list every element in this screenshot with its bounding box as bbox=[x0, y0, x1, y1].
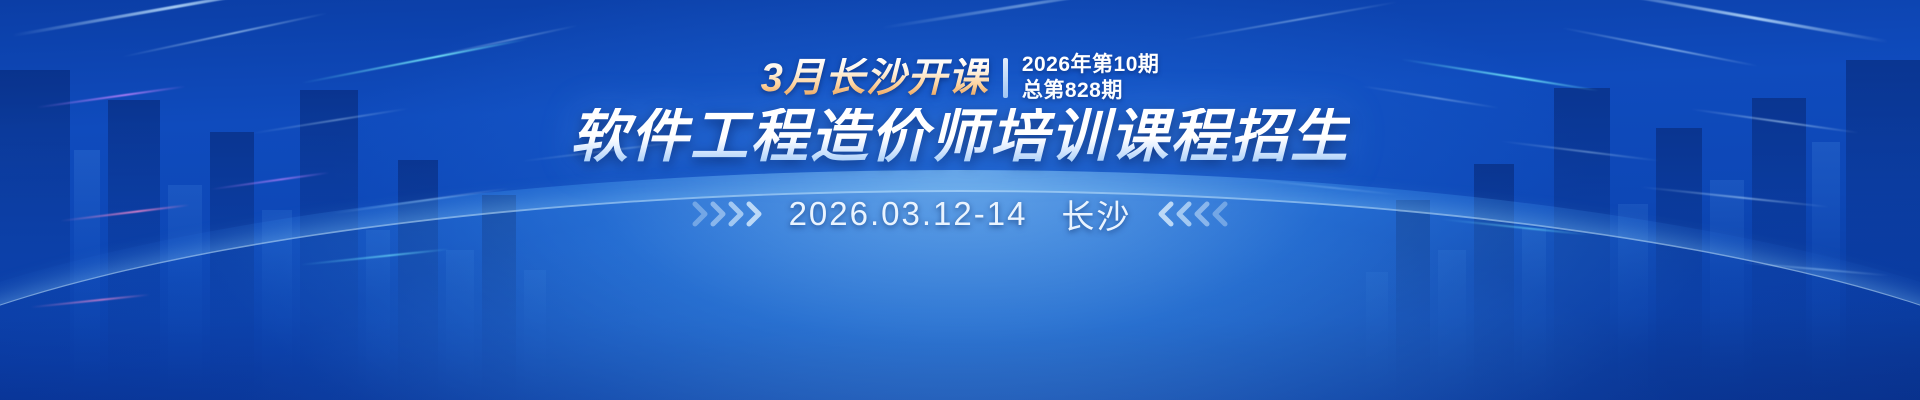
event-banner: 3月长沙开课 2026年第10期 总第828期 软件工程造价师培训课程招生 bbox=[0, 0, 1920, 400]
issue-info: 2026年第10期 总第828期 bbox=[1022, 53, 1160, 104]
banner-content: 3月长沙开课 2026年第10期 总第828期 软件工程造价师培训课程招生 bbox=[0, 0, 1920, 400]
banner-headline: 软件工程造价师培训课程招生 bbox=[570, 108, 1350, 166]
eyebrow-title: 3月长沙开课 bbox=[761, 58, 989, 98]
chevrons-right-icon bbox=[691, 199, 769, 229]
event-city: 长沙 bbox=[1061, 190, 1131, 238]
dateline-row: 2026.03.12-14 长沙 bbox=[691, 190, 1230, 238]
issue-line-1: 2026年第10期 bbox=[1022, 53, 1160, 78]
eyebrow-divider-bar bbox=[1003, 58, 1008, 98]
chevrons-left-icon bbox=[1151, 199, 1229, 229]
event-date: 2026.03.12-14 bbox=[789, 195, 1028, 233]
issue-line-2: 总第828期 bbox=[1022, 79, 1160, 104]
eyebrow-row: 3月长沙开课 2026年第10期 总第828期 bbox=[761, 54, 1160, 102]
